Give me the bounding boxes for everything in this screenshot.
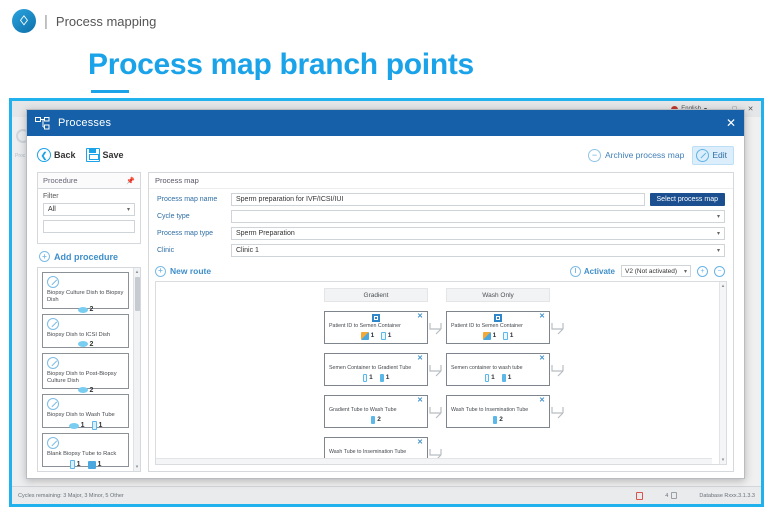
node-count: 1 — [363, 374, 373, 382]
procedure-count-value: 1 — [98, 461, 102, 468]
node-title: Semen Container to Gradient Tube — [329, 365, 423, 372]
scroll-down-icon[interactable]: ▾ — [136, 464, 139, 470]
version-select[interactable]: V2 (Not activated) ▾ — [621, 265, 691, 277]
pencil-circle-icon — [47, 318, 59, 330]
node-header: ✕ — [329, 398, 423, 407]
process-node[interactable]: ✕Semen container to wash tube11 — [446, 353, 550, 386]
scroll-up-icon[interactable]: ▴ — [722, 283, 725, 289]
chevron-down-icon: ▾ — [717, 247, 720, 254]
close-button[interactable]: ✕ — [746, 105, 755, 113]
node-title: Wash Tube to Insemination Tube — [451, 407, 545, 414]
plus-circle-icon: + — [39, 251, 50, 262]
form-field-value: Clinic 1 — [236, 247, 259, 254]
route-column: Gradient✕Patient ID to Semen Container11… — [324, 288, 428, 464]
version-value: V2 (Not activated) — [625, 268, 677, 275]
dialog-header: Processes ✕ — [27, 110, 744, 136]
archive-process-map-button[interactable]: − Archive process map — [588, 149, 684, 162]
procedure-count-value: 2 — [90, 387, 94, 394]
procedure-count: 2 — [78, 387, 94, 394]
plus-circle-icon: + — [155, 266, 166, 277]
alert-icon — [636, 492, 643, 500]
form-row: Process map nameSperm preparation for IV… — [157, 193, 725, 206]
canvas-horizontal-scrollbar[interactable] — [156, 458, 712, 464]
procedure-count: 1 — [92, 421, 103, 430]
pencil-circle-icon — [47, 437, 59, 449]
procedure-list: Biopsy Culture Dish to Biopsy Dish2Biops… — [38, 268, 133, 471]
form-label: Cycle type — [157, 213, 231, 220]
procedure-search-input[interactable] — [43, 220, 135, 233]
brand-separator: | — [44, 13, 48, 30]
power-circle-icon — [570, 266, 581, 277]
brand-bar: ♢ | Process mapping — [0, 0, 773, 42]
processes-icon — [35, 117, 50, 130]
edit-label: Edit — [712, 150, 727, 160]
process-map-form: Process map nameSperm preparation for IV… — [149, 189, 733, 263]
node-remove-button[interactable]: ✕ — [417, 397, 423, 404]
procedure-card[interactable]: Biopsy Culture Dish to Biopsy Dish2 — [42, 272, 129, 309]
form-select[interactable]: Sperm Preparation▾ — [231, 227, 725, 240]
procedure-card[interactable]: Biopsy Dish to Post-Biopsy Culture Dish2 — [42, 353, 129, 390]
node-count: 1 — [483, 332, 497, 340]
node-connector-icon — [429, 322, 443, 336]
procedure-list-scrollbar[interactable]: ▴ ▾ — [133, 268, 140, 471]
tube-outline-icon — [363, 374, 368, 382]
node-count: 1 — [361, 332, 375, 340]
chevron-down-icon: ▾ — [717, 230, 720, 237]
form-label: Clinic — [157, 247, 231, 254]
scroll-up-icon[interactable]: ▴ — [136, 269, 139, 275]
chevron-down-icon: ▾ — [717, 213, 720, 220]
tube-fill-icon — [502, 374, 506, 382]
pencil-circle-icon — [47, 357, 59, 369]
tube-fill-icon — [493, 416, 497, 424]
procedure-card-title: Biopsy Dish to Wash Tube — [47, 412, 124, 419]
tube-icon — [70, 460, 75, 469]
pencil-circle-icon — [47, 276, 59, 288]
processes-dialog: Processes ✕ ❮ Back Save − Archive proces… — [26, 109, 745, 479]
floppy-disk-icon — [86, 148, 100, 162]
procedure-card-title: Blank Biopsy Tube to Rack — [47, 451, 124, 458]
node-count-value: 1 — [371, 332, 375, 339]
procedure-panel-title: Procedure — [43, 176, 78, 185]
node-count-value: 2 — [499, 416, 503, 423]
node-counts: 11 — [451, 374, 545, 382]
procedure-card[interactable]: Biopsy Dish to Wash Tube11 — [42, 394, 129, 428]
node-title: Wash Tube to Insemination Tube — [329, 449, 423, 456]
background-ghost-label: Proc — [15, 153, 25, 159]
node-connector-icon — [429, 364, 443, 378]
procedure-count: 2 — [78, 341, 94, 348]
filter-box: Filter All ▾ — [37, 188, 141, 244]
filter-label: Filter — [43, 193, 135, 200]
procedure-count-value: 1 — [99, 422, 103, 429]
route-column: Wash Only✕Patient ID to Semen Container1… — [446, 288, 550, 464]
node-counts: 11 — [329, 374, 423, 382]
activate-button[interactable]: Activate — [570, 266, 615, 277]
procedure-card-counts: 2 — [47, 306, 124, 313]
node-count-value: 1 — [508, 374, 512, 381]
node-count: 1 — [380, 374, 390, 382]
filter-select[interactable]: All ▾ — [43, 203, 135, 216]
process-node[interactable]: ✕Semen Container to Gradient Tube11 — [324, 353, 428, 386]
node-count-value: 1 — [386, 374, 390, 381]
procedure-card-title: Biopsy Dish to ICSI Dish — [47, 332, 124, 339]
zoom-out-icon[interactable]: − — [714, 266, 725, 277]
back-button[interactable]: ❮ Back — [37, 148, 76, 162]
procedure-count-value: 2 — [90, 341, 94, 348]
node-connector-icon — [429, 406, 443, 420]
chevron-left-circle-icon: ❮ — [37, 148, 51, 162]
route-columns: Gradient✕Patient ID to Semen Container11… — [324, 288, 550, 464]
procedure-count: 2 — [78, 306, 94, 313]
node-count-value: 1 — [493, 332, 497, 339]
node-title: Semen container to wash tube — [451, 365, 545, 372]
tube-fill-icon — [371, 416, 375, 424]
brand-label: Process mapping — [56, 14, 156, 29]
node-header: ✕ — [329, 440, 423, 449]
node-count: 1 — [503, 332, 513, 340]
node-count: 1 — [381, 332, 391, 340]
node-remove-button[interactable]: ✕ — [417, 355, 423, 362]
scroll-down-icon[interactable]: ▾ — [722, 457, 725, 463]
node-connector-icon — [551, 406, 565, 420]
pencil-circle-icon — [47, 398, 59, 410]
filter-select-value: All — [48, 206, 56, 213]
node-remove-button[interactable]: ✕ — [539, 313, 545, 320]
status-bar-database: Database Rxxx.3.1.3.3 — [699, 493, 755, 499]
node-connector-icon — [551, 322, 565, 336]
form-label: Process map name — [157, 196, 231, 203]
node-count-value: 1 — [369, 374, 373, 381]
dialog-body: ❮ Back Save − Archive process map Edit — [27, 136, 744, 478]
pencil-circle-icon — [696, 149, 709, 162]
process-node[interactable]: ✕Gradient Tube to Wash Tube2 — [324, 395, 428, 428]
save-button-label: Save — [103, 150, 124, 160]
process-map-canvas-container: Gradient✕Patient ID to Semen Container11… — [155, 281, 727, 465]
activate-label: Activate — [584, 267, 615, 276]
rack-icon — [88, 461, 96, 469]
minus-circle-icon: − — [588, 149, 601, 162]
node-count: 2 — [371, 416, 381, 424]
node-counts: 2 — [329, 416, 423, 424]
node-count: 1 — [485, 374, 495, 382]
dialog-title: Processes — [58, 117, 111, 129]
process-node[interactable]: ✕Patient ID to Semen Container11 — [324, 311, 428, 344]
node-count-value: 1 — [491, 374, 495, 381]
node-title: Patient ID to Semen Container — [329, 323, 423, 330]
tube-outline-icon — [503, 332, 508, 340]
process-map-canvas[interactable]: Gradient✕Patient ID to Semen Container11… — [156, 282, 719, 464]
chevron-down-icon: ▾ — [127, 206, 130, 213]
archive-label: Archive process map — [605, 150, 684, 160]
node-header: ✕ — [451, 398, 545, 407]
procedure-panel-header: Procedure 📌 — [37, 172, 141, 188]
form-row: ClinicClinic 1▾ — [157, 244, 725, 257]
node-count-value: 1 — [510, 332, 514, 339]
patient-id-badge-icon — [372, 314, 380, 322]
node-remove-button[interactable]: ✕ — [539, 397, 545, 404]
procedure-card-title: Biopsy Culture Dish to Biopsy Dish — [47, 290, 124, 304]
procedure-count: 1 — [88, 461, 102, 469]
procedure-card-title: Biopsy Dish to Post-Biopsy Culture Dish — [47, 371, 124, 385]
procedure-card[interactable]: Biopsy Dish to ICSI Dish2 — [42, 314, 129, 348]
edit-button[interactable]: Edit — [692, 146, 734, 165]
process-node[interactable]: ✕Patient ID to Semen Container11 — [446, 311, 550, 344]
screenshot-frame: English ▾ – □ ✕ IMT Matcher Proc Cycles … — [9, 98, 764, 507]
status-bar-cycles: Cycles remaining: 3 Major, 3 Minor, 5 Ot… — [18, 493, 636, 499]
tube-fill-icon — [380, 374, 384, 382]
select-process-map-button[interactable]: Select process map — [650, 193, 725, 206]
procedure-list-container: Biopsy Culture Dish to Biopsy Dish2Biops… — [37, 267, 141, 472]
process-map-panel: Process map Process map nameSperm prepar… — [148, 172, 734, 472]
status-badge: 4 — [665, 492, 677, 499]
toolbar-right: − Archive process map Edit — [588, 146, 734, 165]
form-select[interactable]: Clinic 1▾ — [231, 244, 725, 257]
canvas-vertical-scrollbar[interactable]: ▴ ▾ — [719, 282, 726, 464]
procedure-count-value: 1 — [77, 461, 81, 468]
form-row: Cycle type▾ — [157, 210, 725, 223]
procedure-count-value: 2 — [90, 306, 94, 313]
dialog-close-button[interactable]: ✕ — [726, 117, 736, 129]
procedure-card-counts: 11 — [47, 421, 124, 430]
form-select[interactable]: ▾ — [231, 210, 725, 223]
route-toolbar-right: Activate V2 (Not activated) ▾ + − — [570, 265, 725, 277]
node-header: ✕ — [329, 356, 423, 365]
slide-title-block: Process map branch points — [0, 42, 773, 93]
chevron-down-icon: ▾ — [684, 268, 687, 275]
process-map-section-title: Process map — [149, 173, 733, 189]
dish-icon — [78, 341, 88, 347]
node-title: Gradient Tube to Wash Tube — [329, 407, 423, 414]
process-node[interactable]: ✕Wash Tube to Insemination Tube2 — [446, 395, 550, 428]
form-field-value: Sperm preparation for IVF/ICSI/IUI — [236, 196, 343, 203]
id-icon — [361, 332, 369, 340]
node-counts: 11 — [329, 332, 423, 340]
procedure-count: 1 — [69, 422, 85, 429]
status-badge-count: 4 — [665, 493, 668, 499]
node-count: 2 — [493, 416, 503, 424]
node-title: Patient ID to Semen Container — [451, 323, 545, 330]
node-remove-button[interactable]: ✕ — [417, 313, 423, 320]
node-remove-button[interactable]: ✕ — [539, 355, 545, 362]
tube-outline-icon — [485, 374, 490, 382]
new-route-label: New route — [170, 266, 211, 276]
patient-id-badge-icon — [494, 314, 502, 322]
node-count-value: 1 — [388, 332, 392, 339]
dish-icon — [78, 387, 88, 393]
procedure-count: 1 — [70, 460, 81, 469]
add-procedure-button[interactable]: + Add procedure — [39, 251, 141, 262]
node-count: 1 — [502, 374, 512, 382]
node-header: ✕ — [329, 314, 423, 323]
id-icon — [483, 332, 491, 340]
status-bar-right: 4 Database Rxxx.3.1.3.3 — [636, 492, 755, 500]
dialog-split: Procedure 📌 Filter All ▾ — [37, 172, 734, 472]
route-header[interactable]: Gradient — [324, 288, 428, 302]
route-toolbar: + New route Activate V2 (Not activated) … — [149, 263, 733, 281]
dish-icon — [69, 423, 79, 429]
node-counts: 2 — [451, 416, 545, 424]
form-label: Process map type — [157, 230, 231, 237]
scrollbar-thumb[interactable] — [135, 277, 140, 311]
status-bar: Cycles remaining: 3 Major, 3 Minor, 5 Ot… — [12, 486, 761, 504]
node-counts: 11 — [451, 332, 545, 340]
node-header: ✕ — [451, 356, 545, 365]
node-count-value: 2 — [377, 416, 381, 423]
dish-icon — [78, 307, 88, 313]
node-header: ✕ — [451, 314, 545, 323]
back-button-label: Back — [54, 150, 76, 160]
form-row: Process map typeSperm Preparation▾ — [157, 227, 725, 240]
add-procedure-label: Add procedure — [54, 252, 118, 262]
document-icon — [671, 492, 677, 499]
dialog-toolbar: ❮ Back Save − Archive process map Edit — [37, 144, 734, 166]
procedure-card-counts: 11 — [47, 460, 124, 469]
save-button[interactable]: Save — [86, 148, 124, 162]
node-remove-button[interactable]: ✕ — [417, 439, 423, 446]
route-header[interactable]: Wash Only — [446, 288, 550, 302]
tube-outline-icon — [381, 332, 386, 340]
procedure-count-value: 1 — [81, 422, 85, 429]
title-underline — [91, 90, 129, 93]
procedure-card-counts: 2 — [47, 387, 124, 394]
drop-logo-icon: ♢ — [12, 9, 36, 33]
tube-icon — [92, 421, 97, 430]
form-field-value: Sperm Preparation — [236, 230, 295, 237]
new-route-button[interactable]: + New route — [155, 266, 211, 277]
procedure-card-counts: 2 — [47, 341, 124, 348]
page-title: Process map branch points — [88, 48, 773, 82]
pin-icon[interactable]: 📌 — [126, 177, 135, 185]
node-connector-icon — [551, 364, 565, 378]
procedure-card[interactable]: Blank Biopsy Tube to Rack11 — [42, 433, 129, 467]
form-text-input[interactable]: Sperm preparation for IVF/ICSI/IUI — [231, 193, 645, 206]
zoom-in-icon[interactable]: + — [697, 266, 708, 277]
procedure-sidebar: Procedure 📌 Filter All ▾ — [37, 172, 141, 472]
